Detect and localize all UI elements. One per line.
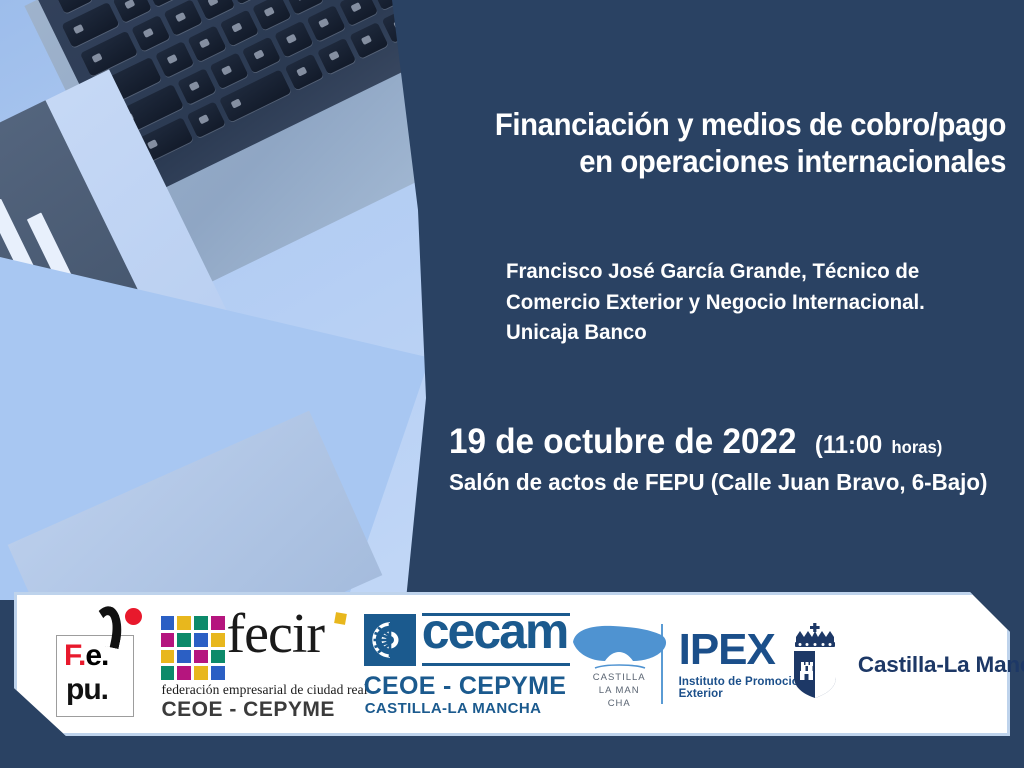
ipex-regional-wordmark: CASTILLA LA MAN CHA [571,672,667,710]
castilla-la-mancha-label: Castilla-La Mancha [858,652,1024,678]
logo-ipex: CASTILLA LA MAN CHA IPEX Instituto de Pr… [563,608,806,720]
ipex-region-line-2: LA MAN [571,685,667,698]
ipex-regional-mark: CASTILLA LA MAN CHA [563,612,645,716]
speaker-line-2: Comercio Exterior y Negocio Internaciona… [506,287,981,318]
fepu-line-1-red: F. [64,639,85,672]
fepu-line-1-black: e. [85,639,108,672]
cecam-spiral-icon [364,614,416,666]
logo-cecam: cecam CEOE - CEPYME CASTILLA-LA MANCHA [364,608,540,720]
fecir-grid-cell-15 [211,666,225,680]
fecir-grid-cell-7 [211,633,225,647]
fecir-grid-cell-6 [194,633,208,647]
logo-fecir: fecir federación empresarial de ciudad r… [161,610,338,718]
crowned-shield-castle-crest-icon [772,621,858,708]
page-title: Financiación y medios de cobro/pago en o… [481,106,1006,179]
fecir-grid-cell-12 [161,666,175,680]
fecir-grid-cell-10 [194,650,208,664]
fecir-grid-cell-8 [161,650,175,664]
event-time-unit: horas) [892,437,943,457]
speaker-line-3: Unicaja Banco [506,317,981,348]
sponsor-logo-row: F.e. pu. fecir federación empresarial de… [14,592,1010,736]
fecir-wordmark: fecir [227,606,325,662]
speaker-line-1: Francisco José García Grande, Técnico de [506,256,981,287]
background-photo [0,0,470,620]
fecir-grid-cell-9 [177,650,191,664]
fecir-grid-cell-1 [177,616,191,630]
fecir-grid-cell-5 [177,633,191,647]
event-venue: Salón de actos de FEPU (Calle Juan Bravo… [449,470,981,496]
event-time: (11:00 [815,431,882,459]
fecir-grid-cell-0 [161,616,175,630]
date-venue-block: 19 de octubre de 2022 (11:00 horas) Saló… [449,424,1009,496]
speaker-block: Francisco José García Grande, Técnico de… [506,256,981,348]
cecam-rule-bottom [422,663,570,666]
title-line-1: Financiación y medios de cobro/pago [495,106,1006,142]
fecir-grid-cell-14 [194,666,208,680]
fecir-accent-dot-icon [334,612,347,625]
logo-fepu: F.e. pu. [40,605,135,723]
fecir-grid-cell-13 [177,666,191,680]
fepu-line-2: pu. [66,675,108,705]
logo-castilla-la-mancha: Castilla-La Mancha [820,605,1010,723]
ipex-region-line-1: CASTILLA [571,672,667,685]
event-date-line: 19 de octubre de 2022 (11:00 horas) [449,424,981,461]
ipex-region-line-3: CHA [571,698,667,711]
fepu-line-1: F.e. [64,641,108,671]
cecam-confederation: CEOE - CEPYME [364,672,567,701]
fecir-grid-cell-4 [161,633,175,647]
fecir-color-grid-icon [161,616,225,680]
fecir-grid-cell-2 [194,616,208,630]
fecir-confederation: CEOE - CEPYME [162,698,335,722]
fepu-dot-icon [125,608,142,625]
title-line-2: en operaciones internacionales [481,143,1006,180]
cecam-wordmark: cecam [422,606,568,656]
event-poster: Financiación y medios de cobro/pago en o… [0,0,1024,768]
fecir-tagline: federación empresarial de ciudad real [162,682,368,698]
cecam-region: CASTILLA-LA MANCHA [365,700,542,717]
fecir-grid-cell-3 [211,616,225,630]
event-date: 19 de octubre de 2022 [449,422,796,461]
fecir-grid-cell-11 [211,650,225,664]
